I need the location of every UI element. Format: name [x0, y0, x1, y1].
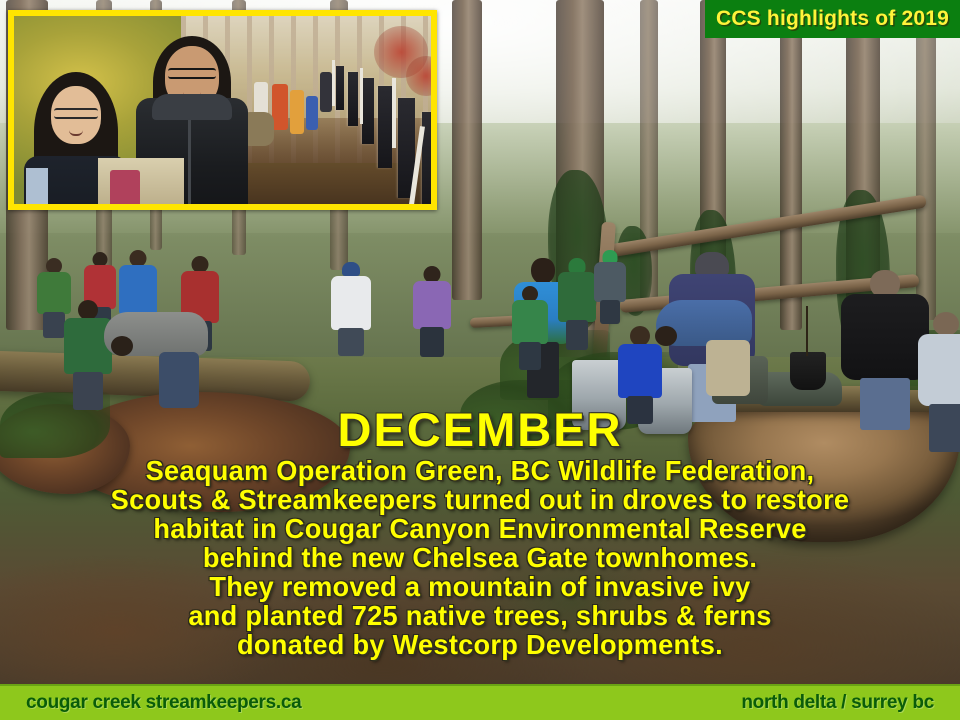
- footer-bar: cougar creek streamkeepers.ca north delt…: [0, 684, 960, 720]
- shirt-collar: [26, 168, 48, 210]
- volunteer: [916, 312, 960, 452]
- sapling: [806, 306, 808, 356]
- trail-stake: [360, 68, 363, 124]
- trail-post: [348, 72, 358, 126]
- highlights-banner-label: CCS highlights of 2019: [716, 7, 949, 31]
- volunteer-bending: [654, 300, 774, 396]
- footer-location-label: north delta / surrey bc: [741, 692, 934, 714]
- volunteer-bending: [104, 312, 234, 408]
- highlights-banner: CCS highlights of 2019: [705, 0, 960, 38]
- volunteer: [410, 266, 454, 358]
- volunteer: [592, 250, 628, 324]
- footer-website-label[interactable]: cougar creek streamkeepers.ca: [26, 692, 301, 714]
- supply-box: [110, 170, 140, 210]
- jacket-zipper: [188, 112, 191, 208]
- trail-stake: [392, 78, 396, 148]
- trail-post: [378, 86, 392, 168]
- jacket-hood: [152, 94, 232, 120]
- tree-trunk: [452, 0, 482, 300]
- distant-volunteer: [306, 96, 318, 130]
- trail-stake: [332, 60, 335, 106]
- poster: CCS highlights of 2019 DECEMBER Seaquam …: [0, 0, 960, 720]
- volunteer: [328, 262, 374, 356]
- nursery-pot: [790, 352, 826, 390]
- volunteer: [510, 286, 550, 370]
- trail-post: [336, 66, 344, 110]
- distant-volunteer: [290, 90, 304, 134]
- inset-volunteers-photo: [8, 10, 437, 210]
- tree-trunk: [780, 0, 802, 330]
- distant-volunteer: [320, 72, 332, 112]
- trail-post: [362, 78, 374, 144]
- distant-volunteer: [272, 84, 288, 130]
